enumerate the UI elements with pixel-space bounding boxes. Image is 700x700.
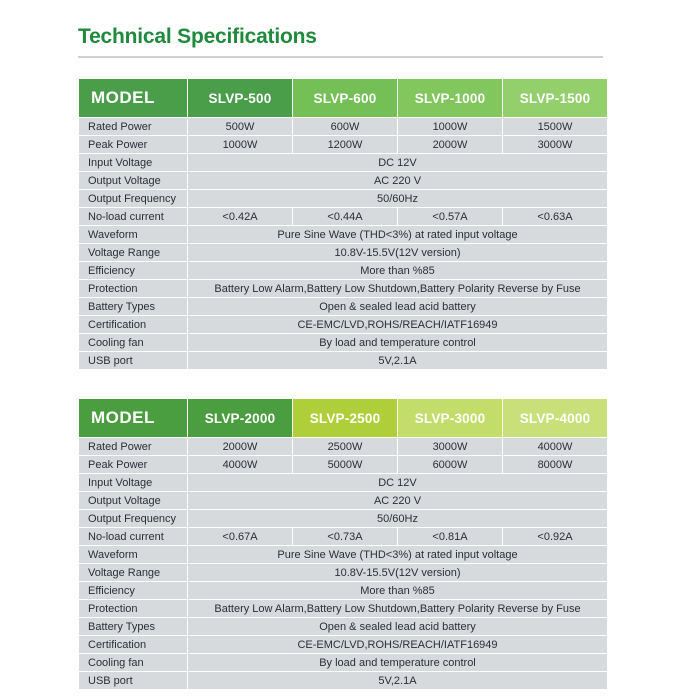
row-label: Protection	[79, 280, 187, 297]
table-row: Voltage Range10.8V-15.5V(12V version)	[79, 244, 607, 261]
row-label: USB port	[79, 352, 187, 369]
table-row: WaveformPure Sine Wave (THD<3%) at rated…	[79, 546, 607, 563]
table-row: ProtectionBattery Low Alarm,Battery Low …	[79, 280, 607, 297]
table-row: Peak Power4000W5000W6000W8000W	[79, 456, 607, 473]
row-value: 500W	[188, 118, 292, 135]
row-label: Peak Power	[79, 456, 187, 473]
table-row: Battery TypesOpen & sealed lead acid bat…	[79, 298, 607, 315]
spec-table-1-body: MODELSLVP-500SLVP-600SLVP-1000SLVP-1500R…	[79, 79, 607, 369]
title-divider	[78, 56, 603, 58]
table-row: Voltage Range10.8V-15.5V(12V version)	[79, 564, 607, 581]
row-value-merged: 10.8V-15.5V(12V version)	[188, 564, 607, 581]
row-label: Voltage Range	[79, 244, 187, 261]
row-label: Battery Types	[79, 618, 187, 635]
row-value: 5000W	[293, 456, 397, 473]
row-label: No-load current	[79, 528, 187, 545]
header-model-slvp-1500: SLVP-1500	[503, 79, 607, 117]
row-label: Battery Types	[79, 298, 187, 315]
table-row: Input VoltageDC 12V	[79, 474, 607, 491]
row-value-merged: 10.8V-15.5V(12V version)	[188, 244, 607, 261]
row-value-merged: 5V,2.1A	[188, 352, 607, 369]
row-label: Certification	[79, 636, 187, 653]
spec-table-2-body: MODELSLVP-2000SLVP-2500SLVP-3000SLVP-400…	[79, 399, 607, 689]
row-value: <0.44A	[293, 208, 397, 225]
row-label: Output Voltage	[79, 172, 187, 189]
row-label: USB port	[79, 672, 187, 689]
table-row: CertificationCE-EMC/LVD,ROHS/REACH/IATF1…	[79, 636, 607, 653]
row-value: 1200W	[293, 136, 397, 153]
header-model-slvp-2500: SLVP-2500	[293, 399, 397, 437]
table-row: USB port5V,2.1A	[79, 672, 607, 689]
table-row: Output VoltageAC 220 V	[79, 492, 607, 509]
table-header-row: MODELSLVP-2000SLVP-2500SLVP-3000SLVP-400…	[79, 399, 607, 437]
row-value-merged: More than %85	[188, 262, 607, 279]
row-value-merged: DC 12V	[188, 154, 607, 171]
header-model-slvp-1000: SLVP-1000	[398, 79, 502, 117]
row-label: Efficiency	[79, 582, 187, 599]
row-value: 1000W	[398, 118, 502, 135]
row-value: <0.67A	[188, 528, 292, 545]
row-value: 2500W	[293, 438, 397, 455]
row-value-merged: CE-EMC/LVD,ROHS/REACH/IATF16949	[188, 316, 607, 333]
row-label: No-load current	[79, 208, 187, 225]
table-row: No-load current<0.42A<0.44A<0.57A<0.63A	[79, 208, 607, 225]
table-row: CertificationCE-EMC/LVD,ROHS/REACH/IATF1…	[79, 316, 607, 333]
table-row: WaveformPure Sine Wave (THD<3%) at rated…	[79, 226, 607, 243]
row-value: <0.63A	[503, 208, 607, 225]
table-row: EfficiencyMore than %85	[79, 262, 607, 279]
table-row: Battery TypesOpen & sealed lead acid bat…	[79, 618, 607, 635]
table-row: No-load current<0.67A<0.73A<0.81A<0.92A	[79, 528, 607, 545]
row-value-merged: Pure Sine Wave (THD<3%) at rated input v…	[188, 226, 607, 243]
row-label: Waveform	[79, 546, 187, 563]
row-value-merged: AC 220 V	[188, 492, 607, 509]
header-model-slvp-600: SLVP-600	[293, 79, 397, 117]
table-row: USB port5V,2.1A	[79, 352, 607, 369]
row-label: Input Voltage	[79, 474, 187, 491]
table-row: ProtectionBattery Low Alarm,Battery Low …	[79, 600, 607, 617]
table-row: Rated Power500W600W1000W1500W	[79, 118, 607, 135]
table-row: Cooling fanBy load and temperature contr…	[79, 654, 607, 671]
table-header-row: MODELSLVP-500SLVP-600SLVP-1000SLVP-1500	[79, 79, 607, 117]
table-row: Input VoltageDC 12V	[79, 154, 607, 171]
header-model-label: MODEL	[79, 79, 187, 117]
spec-table-1: MODELSLVP-500SLVP-600SLVP-1000SLVP-1500R…	[78, 78, 608, 370]
header-model-slvp-4000: SLVP-4000	[503, 399, 607, 437]
row-label: Waveform	[79, 226, 187, 243]
row-value: <0.57A	[398, 208, 502, 225]
specifications-page: Technical Specifications MODELSLVP-500SL…	[0, 0, 700, 700]
row-value-merged: Open & sealed lead acid battery	[188, 618, 607, 635]
row-label: Peak Power	[79, 136, 187, 153]
table-row: Rated Power2000W2500W3000W4000W	[79, 438, 607, 455]
row-value-merged: Pure Sine Wave (THD<3%) at rated input v…	[188, 546, 607, 563]
header-model-label: MODEL	[79, 399, 187, 437]
table-row: Cooling fanBy load and temperature contr…	[79, 334, 607, 351]
page-title: Technical Specifications	[78, 24, 603, 50]
row-value: 4000W	[503, 438, 607, 455]
row-value-merged: Battery Low Alarm,Battery Low Shutdown,B…	[188, 600, 607, 617]
row-value: 600W	[293, 118, 397, 135]
row-value-merged: CE-EMC/LVD,ROHS/REACH/IATF16949	[188, 636, 607, 653]
row-value-merged: By load and temperature control	[188, 334, 607, 351]
row-value-merged: By load and temperature control	[188, 654, 607, 671]
spec-table-2: MODELSLVP-2000SLVP-2500SLVP-3000SLVP-400…	[78, 398, 608, 690]
row-value-merged: 50/60Hz	[188, 190, 607, 207]
row-label: Voltage Range	[79, 564, 187, 581]
row-label: Certification	[79, 316, 187, 333]
row-value: 1500W	[503, 118, 607, 135]
table-row: EfficiencyMore than %85	[79, 582, 607, 599]
row-value: 4000W	[188, 456, 292, 473]
row-value: 3000W	[398, 438, 502, 455]
row-label: Protection	[79, 600, 187, 617]
row-value: <0.73A	[293, 528, 397, 545]
row-value: 1000W	[188, 136, 292, 153]
row-value: <0.92A	[503, 528, 607, 545]
row-value: 2000W	[398, 136, 502, 153]
table-row: Output VoltageAC 220 V	[79, 172, 607, 189]
row-value: 3000W	[503, 136, 607, 153]
row-value: 2000W	[188, 438, 292, 455]
row-label: Rated Power	[79, 438, 187, 455]
row-label: Output Voltage	[79, 492, 187, 509]
header-model-slvp-2000: SLVP-2000	[188, 399, 292, 437]
row-value: <0.81A	[398, 528, 502, 545]
row-label: Efficiency	[79, 262, 187, 279]
header-model-slvp-3000: SLVP-3000	[398, 399, 502, 437]
row-value: <0.42A	[188, 208, 292, 225]
row-label: Cooling fan	[79, 654, 187, 671]
row-value-merged: 50/60Hz	[188, 510, 607, 527]
row-label: Rated Power	[79, 118, 187, 135]
table-row: Output Frequency50/60Hz	[79, 510, 607, 527]
row-value: 6000W	[398, 456, 502, 473]
title-block: Technical Specifications	[78, 24, 603, 58]
row-value: 8000W	[503, 456, 607, 473]
row-value-merged: More than %85	[188, 582, 607, 599]
row-value-merged: 5V,2.1A	[188, 672, 607, 689]
row-label: Output Frequency	[79, 510, 187, 527]
header-model-slvp-500: SLVP-500	[188, 79, 292, 117]
row-label: Output Frequency	[79, 190, 187, 207]
row-value-merged: DC 12V	[188, 474, 607, 491]
table-row: Peak Power1000W1200W2000W3000W	[79, 136, 607, 153]
row-label: Cooling fan	[79, 334, 187, 351]
table-row: Output Frequency50/60Hz	[79, 190, 607, 207]
row-value-merged: AC 220 V	[188, 172, 607, 189]
row-value-merged: Open & sealed lead acid battery	[188, 298, 607, 315]
row-value-merged: Battery Low Alarm,Battery Low Shutdown,B…	[188, 280, 607, 297]
row-label: Input Voltage	[79, 154, 187, 171]
